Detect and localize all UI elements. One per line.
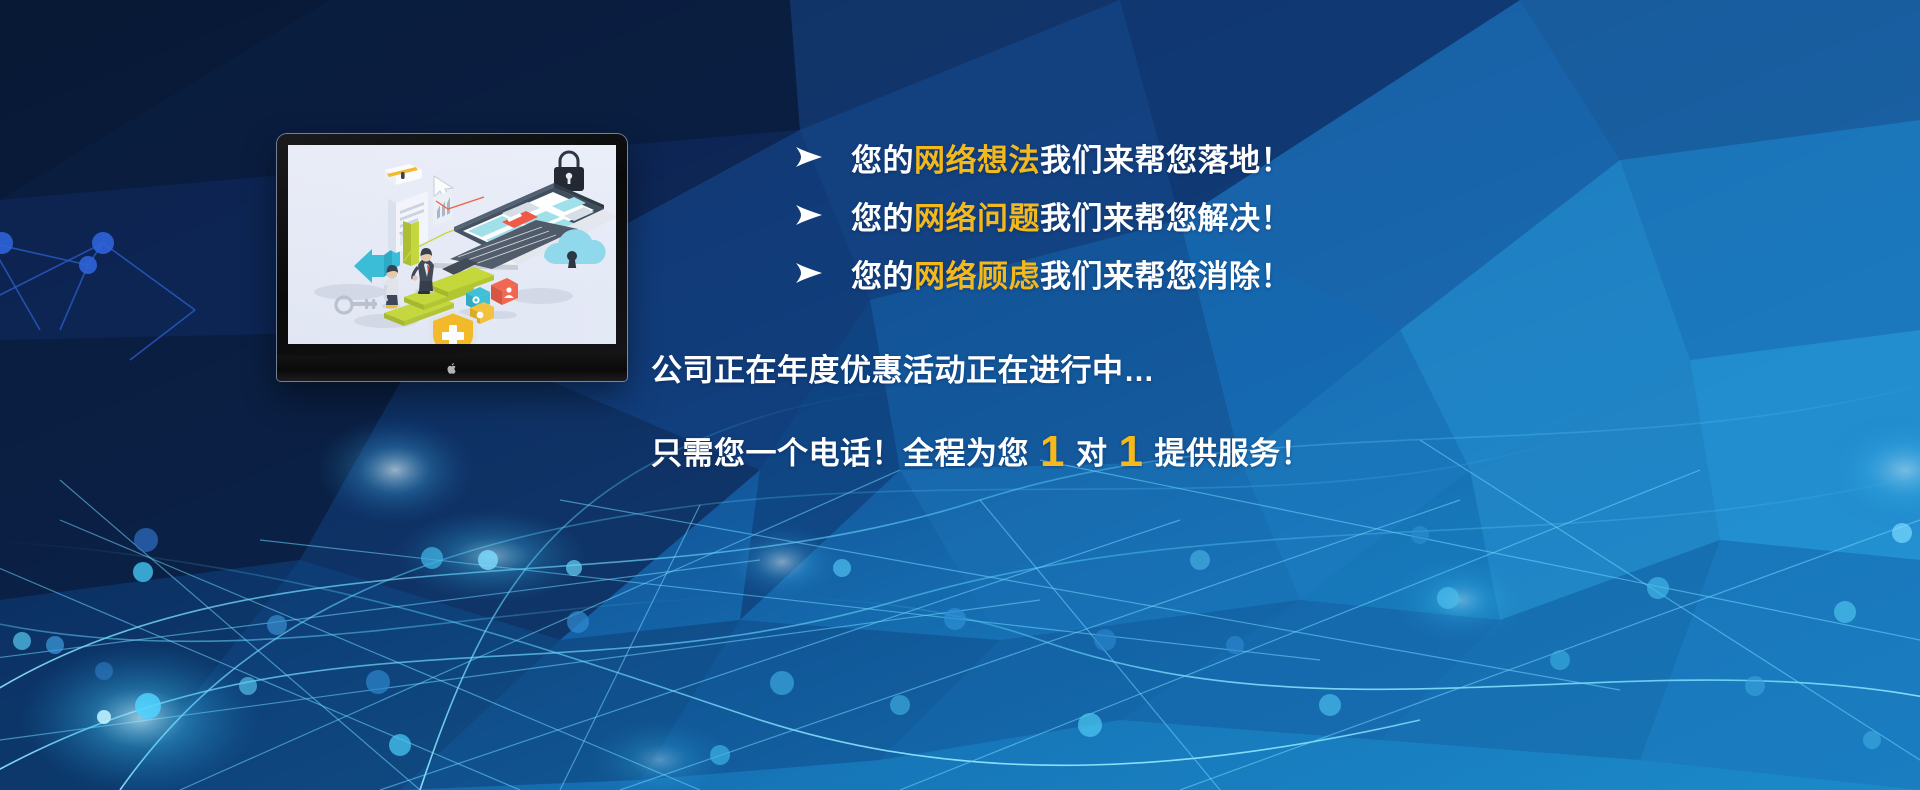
bullet-3-prefix: 您的 xyxy=(851,259,914,294)
apple-logo-icon xyxy=(447,362,458,375)
bullet-2-highlight: 网络问题 xyxy=(914,201,1040,236)
promo-line-2-middle: 对 xyxy=(1076,436,1108,471)
bullet-1-prefix: 您的 xyxy=(851,143,914,178)
bullet-2-suffix: 我们来帮您解决！ xyxy=(1040,201,1292,236)
promo-number-2: 1 xyxy=(1114,427,1147,476)
bullet-text-3: 您的网络顾虑我们来帮您消除！ xyxy=(851,251,1292,296)
bullet-2-prefix: 您的 xyxy=(851,201,914,236)
bullet-row-3: 您的网络顾虑我们来帮您消除！ xyxy=(795,244,1555,302)
bullet-3-highlight: 网络顾虑 xyxy=(914,259,1040,294)
isometric-security-scene xyxy=(288,145,616,344)
bullet-text-1: 您的网络想法我们来帮您落地！ xyxy=(851,135,1292,180)
promo-number-1: 1 xyxy=(1036,427,1069,476)
bullet-text-2: 您的网络问题我们来帮您解决！ xyxy=(851,193,1292,238)
bullet-3-suffix: 我们来帮您消除！ xyxy=(1040,259,1292,294)
marketing-copy-block: 您的网络想法我们来帮您落地！ 您的网络问题我们来帮您解决！ 您的网络顾虑我们来帮… xyxy=(795,128,1555,473)
bullet-row-1: 您的网络想法我们来帮您落地！ xyxy=(795,128,1555,186)
monitor-chin xyxy=(277,355,627,381)
promo-line-2: 只需您一个电话！全程为您1对1提供服务！ xyxy=(651,428,1555,473)
arrow-bullet-icon xyxy=(795,204,823,226)
arrow-bullet-icon xyxy=(795,262,823,284)
promo-line-2-part-2: 提供服务！ xyxy=(1154,436,1312,471)
monitor-screen xyxy=(288,145,616,344)
arrow-bullet-icon xyxy=(795,146,823,168)
desktop-monitor-illustration xyxy=(277,134,627,381)
promo-banner: 您的网络想法我们来帮您落地！ 您的网络问题我们来帮您解决！ 您的网络顾虑我们来帮… xyxy=(0,0,1920,790)
bullet-1-suffix: 我们来帮您落地！ xyxy=(1040,143,1292,178)
bullet-row-2: 您的网络问题我们来帮您解决！ xyxy=(795,186,1555,244)
promo-line-1: 公司正在年度优惠活动正在进行中… xyxy=(651,345,1555,390)
bullet-1-highlight: 网络想法 xyxy=(914,143,1040,178)
promo-line-2-part-1: 只需您一个电话！全程为您 xyxy=(651,436,1029,471)
